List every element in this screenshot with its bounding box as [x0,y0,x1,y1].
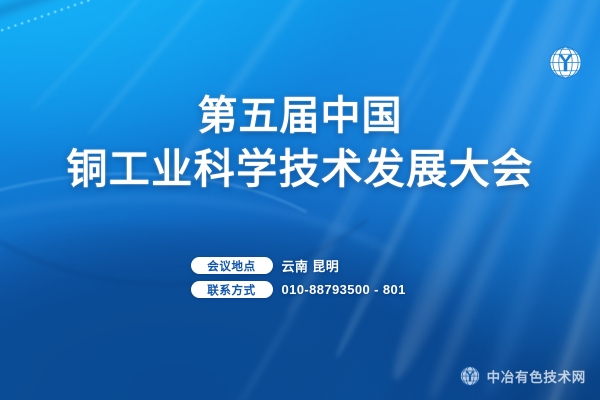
title-line-1: 第五届中国 [0,96,600,136]
poster-title: 第五届中国 铜工业科学技术发展大会 [0,96,600,190]
conference-banner-poster: 第五届中国 铜工业科学技术发展大会 会议地点云南 昆明联系方式010-88793… [0,0,600,400]
info-label-pill-contact: 联系方式 [191,281,273,298]
info-row-contact: 联系方式010-88793500 - 801 [0,281,600,298]
info-row-venue: 会议地点云南 昆明 [0,256,600,275]
info-value-venue: 云南 昆明 [282,256,410,275]
watermark-text: 中冶有色技术网 [487,366,586,386]
site-watermark: 中冶有色技术网 [460,366,586,386]
info-value-contact: 010-88793500 - 801 [282,282,410,297]
conference-info-list: 会议地点云南 昆明联系方式010-88793500 - 801 [0,256,600,298]
background-deep-navy-glow [0,224,486,400]
globe-y-monogram-icon [549,46,582,79]
globe-y-monogram-icon [460,366,480,386]
info-label-pill-venue: 会议地点 [191,257,273,274]
title-line-2: 铜工业科学技术发展大会 [0,149,600,190]
